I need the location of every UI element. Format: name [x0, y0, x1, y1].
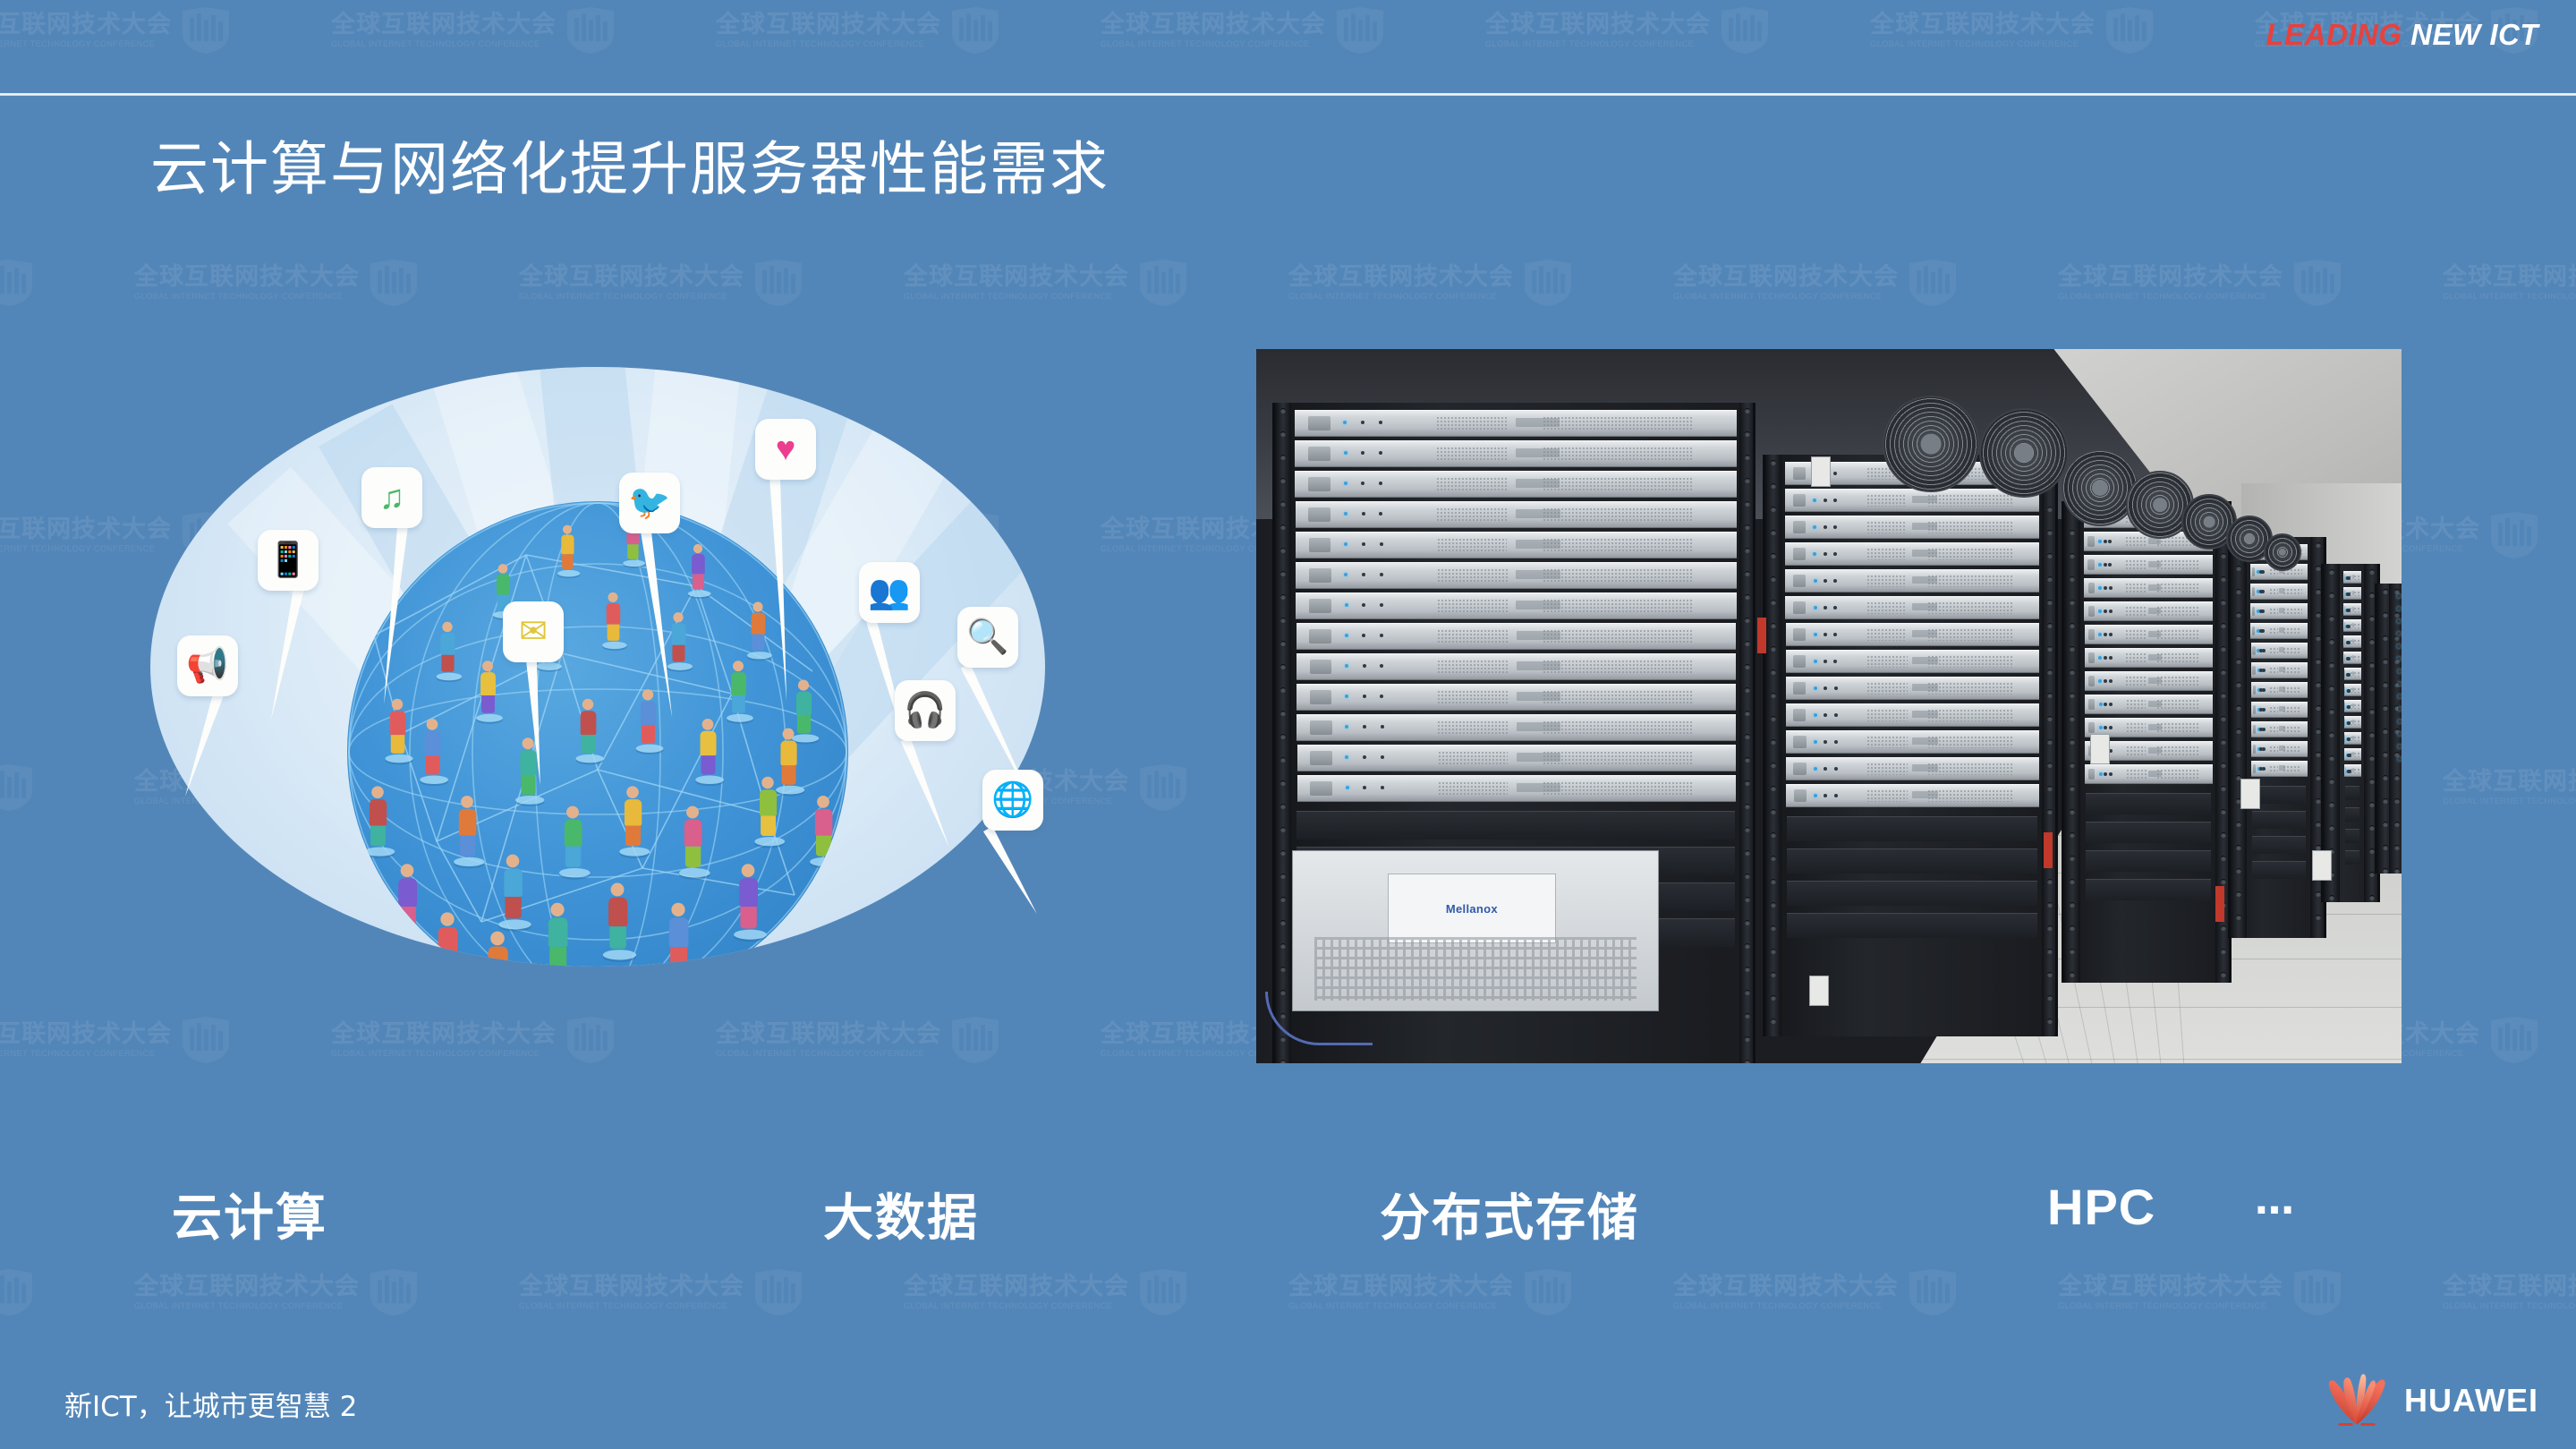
server-label [1517, 753, 1560, 762]
server-vent [2156, 746, 2200, 755]
person-legs [549, 947, 566, 967]
music-note-icon: ♫ [361, 467, 422, 528]
rack-server [2251, 643, 2308, 659]
server-handle [1793, 548, 1806, 560]
rail-hole [2329, 755, 2334, 761]
server-led [1814, 579, 1817, 583]
rail-hole [2236, 845, 2241, 850]
server-label [2148, 678, 2161, 684]
server-led [1824, 767, 1827, 771]
server-led [2109, 726, 2113, 729]
person-legs [685, 846, 701, 866]
server-vent [2126, 722, 2147, 732]
asset-label [2312, 850, 2332, 881]
rail-hole [1280, 780, 1286, 786]
rail-hole [2070, 669, 2075, 675]
rail-hole [1280, 920, 1286, 925]
rack-server [1297, 684, 1736, 711]
server-vent [2156, 629, 2200, 639]
server-led [2109, 679, 2113, 683]
server-led [2104, 586, 2107, 590]
rail-hole [2221, 856, 2226, 861]
music-note-icon-glyph: ♫ [379, 481, 405, 515]
server-handle [1310, 660, 1332, 675]
server-led [2109, 772, 2113, 776]
megaphone-icon-glyph: 📢 [186, 649, 228, 683]
person-torso [640, 702, 655, 726]
server-led [1834, 740, 1838, 744]
rail-hole [2236, 891, 2241, 897]
globe-person [667, 612, 688, 670]
server-vent [2156, 676, 2200, 686]
server-label [1516, 570, 1560, 579]
person-legs [399, 907, 415, 928]
server-handle [1308, 507, 1331, 523]
data-center-server-racks-photo: Mellanox [1256, 349, 2402, 1063]
server-handle [2087, 559, 2094, 570]
server-label [2352, 655, 2354, 659]
server-led [2398, 682, 2402, 686]
person-torso [480, 672, 495, 695]
server-label [2352, 639, 2354, 643]
rail-hole [2047, 530, 2053, 535]
rail-hole [1745, 734, 1750, 739]
rack-server [2343, 652, 2360, 664]
server-vent [1437, 660, 1508, 674]
person-platform [498, 919, 531, 929]
server-vent [1437, 629, 1508, 644]
server-label [2352, 752, 2354, 755]
rack-server [1297, 714, 1736, 741]
watermark-en: GLOBAL INTERNET TECHNOLOGY CONFERENCE [1870, 40, 2088, 49]
rail-hole [2394, 798, 2400, 804]
server-handle [2088, 722, 2095, 733]
rack-server [2343, 635, 2361, 648]
rail-hole [2236, 682, 2241, 687]
rail-hole [2383, 798, 2388, 804]
server-led [1833, 472, 1837, 475]
server-led [1363, 786, 1366, 789]
mobile-phone-icon-glyph: 📱 [267, 543, 309, 577]
server-vent [1866, 736, 1907, 747]
server-vent [2125, 583, 2146, 592]
server-led [2347, 592, 2351, 596]
rack-server [1786, 784, 2039, 807]
rail-hole [2070, 832, 2075, 838]
server-vent [2353, 720, 2359, 726]
server-led [2261, 629, 2265, 633]
server-vent [1543, 416, 1693, 430]
server-led [1379, 451, 1382, 455]
watermark-cn: 全球互联网技术大会 [0, 1022, 172, 1046]
rack-server [1785, 542, 2039, 566]
rack-rail [2231, 537, 2247, 938]
server-vent [2156, 652, 2200, 662]
server-led [1344, 512, 1348, 516]
watermark-cn: 全球互联网技术大会 [519, 265, 744, 289]
rack-server [2085, 648, 2213, 668]
rail-hole [2236, 915, 2241, 920]
server-vent [2353, 768, 2359, 774]
person-torso [519, 750, 535, 775]
server-vent [2125, 652, 2146, 662]
server-led [1363, 755, 1366, 759]
watermark-text: 全球互联网技术大会 GLOBAL INTERNET TECHNOLOGY CON… [2058, 1274, 2283, 1311]
server-label [1912, 737, 1937, 746]
person-torso [751, 613, 765, 635]
server-vent [2269, 667, 2278, 675]
server-label [1516, 540, 1560, 549]
rail-hole [2221, 623, 2226, 628]
globe-person [727, 661, 750, 721]
rail-hole [1745, 455, 1750, 460]
watermark-cn: 全球互联网技术大会 [716, 1022, 941, 1046]
rack-blank-panel [2086, 850, 2211, 872]
rail-hole [2236, 612, 2241, 618]
server-label [1912, 630, 1937, 638]
rail-hole [1771, 553, 1776, 558]
server-label [1517, 661, 1560, 670]
watermark-en: GLOBAL INTERNET TECHNOLOGY CONFERENCE [2058, 1302, 2276, 1311]
rail-hole [1745, 757, 1750, 763]
person-torso [760, 789, 777, 815]
server-led [1345, 603, 1348, 607]
server-label [1517, 631, 1560, 640]
server-handle [1794, 789, 1807, 802]
rail-hole [1771, 716, 1776, 721]
rail-hole [1745, 850, 1750, 856]
shield-logo [2487, 1017, 2541, 1063]
rack-server [2344, 684, 2361, 696]
server-vent [1543, 751, 1692, 765]
server-vent [1866, 601, 1907, 613]
header-divider-rule [0, 93, 2576, 96]
rail-hole [1280, 943, 1286, 949]
floor-tile-line [1920, 1059, 2402, 1060]
person-head [551, 902, 565, 916]
person-legs [627, 544, 638, 559]
globe-person [734, 864, 762, 939]
server-vent [2353, 623, 2359, 629]
server-label [1516, 601, 1560, 609]
rack-blank-panel [2086, 793, 2211, 814]
rail-hole [2047, 646, 2053, 652]
server-vent [2269, 726, 2278, 734]
server-led [2109, 633, 2113, 636]
rail-hole [1771, 995, 1776, 1001]
heart-icon: ♥ [755, 419, 816, 480]
rail-hole [1745, 478, 1750, 483]
rack-server [2085, 671, 2213, 691]
rack-rail [2064, 501, 2080, 983]
watermark-cn: 全球互联网技术大会 [904, 265, 1129, 289]
server-led [1824, 606, 1827, 609]
person-platform [623, 559, 645, 566]
globe-person [559, 805, 586, 877]
server-label [1517, 783, 1560, 792]
server-handle [2253, 764, 2256, 773]
watermark-tile: 全球互联网技术大会 GLOBAL INTERNET TECHNOLOGY CON… [1485, 7, 1772, 54]
watermark-en: GLOBAL INTERNET TECHNOLOGY CONFERENCE [1673, 293, 1892, 302]
server-label [2352, 768, 2354, 771]
server-label [2279, 627, 2284, 633]
person-torso [398, 878, 417, 907]
person-head [626, 787, 639, 799]
rail-hole [1771, 623, 1776, 628]
server-led [1381, 786, 1384, 789]
shield-logo [367, 260, 421, 306]
watermark-tile: 全球互联网技术大会 GLOBAL INTERNET TECHNOLOGY CON… [134, 260, 421, 306]
server-vent [2283, 706, 2301, 714]
server-led [2099, 726, 2103, 729]
server-vent [2283, 726, 2301, 734]
rail-hole [1280, 478, 1286, 483]
rack-server [2344, 748, 2361, 761]
watermark-tile: 全球互联网技术大会 GLOBAL INTERNET TECHNOLOGY CON… [2443, 260, 2576, 306]
rack-server [2085, 764, 2213, 784]
server-led [1814, 794, 1817, 797]
server-label [2279, 608, 2284, 613]
server-label [2148, 608, 2161, 614]
person-torso [625, 799, 642, 826]
server-handle [1793, 575, 1806, 587]
watermark-cn: 全球互联网技术大会 [1673, 265, 1899, 289]
watermark-text: 全球互联网技术大会 GLOBAL INTERNET TECHNOLOGY CON… [716, 13, 941, 49]
server-vent [2283, 686, 2301, 695]
server-led [1814, 686, 1817, 690]
globe-person [575, 699, 599, 763]
person-head [442, 622, 452, 632]
mellanox-chassis: Mellanox [1292, 850, 1659, 1011]
rail-hole [1280, 594, 1286, 600]
rail-hole [1771, 693, 1776, 698]
rail-hole [2329, 662, 2334, 668]
rail-hole [1280, 641, 1286, 646]
shield-logo [179, 7, 233, 54]
server-led [1361, 482, 1365, 485]
server-label [1912, 711, 1937, 719]
rack-server [2344, 764, 2361, 777]
rail-hole [2383, 682, 2388, 687]
server-label [1516, 418, 1560, 427]
person-platform [437, 672, 462, 680]
server-label [2352, 703, 2354, 707]
server-vent [1927, 601, 2013, 613]
rail-hole [1771, 576, 1776, 582]
globe-person [602, 592, 624, 649]
rail-hole [1280, 431, 1286, 437]
rack-rail [2042, 455, 2058, 1036]
watermark-en: GLOBAL INTERNET TECHNOLOGY CONFERENCE [1485, 40, 1704, 49]
rail-hole [2221, 716, 2226, 721]
server-label [2148, 631, 2161, 637]
server-led [1362, 573, 1365, 576]
rack-rail [1275, 403, 1291, 1063]
rack-server [1296, 592, 1736, 619]
rail-hole [2047, 716, 2053, 721]
server-vent [2269, 746, 2278, 754]
server-handle [1793, 467, 1806, 480]
person-torso [730, 672, 745, 695]
rail-hole [1771, 1019, 1776, 1024]
person-head [522, 737, 533, 749]
server-label [2279, 647, 2284, 652]
server-label [2279, 746, 2284, 751]
server-led [1362, 512, 1365, 516]
globe-person [437, 622, 459, 680]
watermark-text: 全球互联网技术大会 GLOBAL INTERNET TECHNOLOGY CON… [0, 1022, 172, 1059]
watermark-cn: 全球互联网技术大会 [331, 13, 557, 37]
server-handle [2087, 536, 2094, 547]
server-led [1344, 451, 1348, 455]
person-legs [609, 926, 626, 949]
rail-hole [1280, 757, 1286, 763]
server-led [1814, 633, 1817, 636]
server-led [2262, 767, 2266, 771]
rail-hole [1280, 548, 1286, 553]
server-handle [1793, 628, 1806, 641]
person-torso [795, 692, 811, 715]
rack-blank-panel [1297, 811, 1735, 840]
watermark-cn: 全球互联网技术大会 [2058, 265, 2283, 289]
rail-hole [2394, 612, 2400, 618]
rack-blank-panel [2345, 850, 2359, 865]
rail-hole [2047, 879, 2053, 884]
person-torso [608, 898, 627, 926]
server-led [1361, 421, 1365, 424]
rack-server [1295, 410, 1737, 437]
server-handle [2088, 769, 2095, 780]
warning-tag [1757, 618, 1766, 653]
person-head [753, 602, 763, 612]
rack-server [1295, 471, 1736, 498]
shield-logo [2487, 512, 2541, 558]
person-head [582, 699, 593, 710]
watermark-cn: 全球互联网技术大会 [716, 13, 941, 37]
server-handle [2344, 670, 2345, 677]
server-vent [2269, 608, 2278, 616]
asset-label [1809, 976, 1829, 1006]
person-platform [559, 868, 591, 877]
rail-hole [2047, 1019, 2053, 1024]
shield-logo [1906, 260, 1960, 306]
rail-hole [1280, 1036, 1286, 1042]
person-head [798, 680, 809, 691]
globe-person [364, 787, 391, 857]
watermark-text: 全球互联网技术大会 GLOBAL INTERNET TECHNOLOGY CON… [2058, 265, 2283, 302]
watermark-text: 全球互联网技术大会 GLOBAL INTERNET TECHNOLOGY CON… [134, 1274, 360, 1311]
person-torso [700, 731, 716, 756]
watermark-tile: 全球互联网技术大会 GLOBAL INTERNET TECHNOLOGY CON… [904, 260, 1190, 306]
rail-hole [1745, 548, 1750, 553]
watermark-en: GLOBAL INTERNET TECHNOLOGY CONFERENCE [519, 293, 737, 302]
server-vent [2353, 591, 2359, 597]
rail-hole [2221, 786, 2226, 791]
server-label [2352, 591, 2354, 594]
server-vent [1927, 521, 2013, 533]
person-legs [740, 907, 756, 928]
rail-hole [2329, 686, 2334, 691]
server-led [1346, 786, 1349, 789]
rack-blank-panel [2252, 836, 2306, 854]
server-handle [1309, 599, 1331, 614]
server-vent [1438, 751, 1508, 765]
person-legs [425, 755, 439, 774]
watermark-en: GLOBAL INTERNET TECHNOLOGY CONFERENCE [0, 545, 165, 554]
person-platform [364, 848, 395, 857]
shield-logo [752, 260, 805, 306]
server-label [1912, 523, 1937, 531]
rail-hole [2221, 879, 2226, 884]
server-vent [2283, 647, 2302, 655]
person-legs [781, 765, 795, 784]
bird-icon-glyph: 🐦 [628, 486, 670, 520]
person-head [371, 787, 384, 799]
label-hpc: HPC [2047, 1178, 2155, 1236]
person-head [673, 612, 683, 622]
rack-blank-panel [2252, 786, 2306, 804]
rack-server [2344, 668, 2361, 680]
server-led [2098, 656, 2102, 660]
server-led [1834, 767, 1838, 771]
watermark-en: GLOBAL INTERNET TECHNOLOGY CONFERENCE [904, 1302, 1122, 1311]
person-platform [734, 929, 767, 939]
globe-person [498, 854, 527, 929]
rail-hole [1745, 990, 1750, 995]
mail-envelope-icon: ✉ [503, 601, 564, 662]
server-led [2109, 586, 2113, 590]
server-led [1824, 713, 1827, 717]
rail-hole [2047, 925, 2053, 931]
rail-hole [1280, 501, 1286, 507]
person-head [566, 805, 579, 818]
server-handle [2344, 638, 2345, 644]
rail-hole [2047, 763, 2053, 768]
person-legs [607, 625, 619, 641]
server-vent [2353, 736, 2359, 742]
rack-blank-panel [2345, 807, 2359, 822]
rail-hole [2394, 635, 2400, 641]
person-platform [476, 713, 503, 721]
server-led [1834, 686, 1838, 690]
globe-person [482, 932, 513, 967]
person-platform [386, 754, 413, 763]
server-vent [1437, 720, 1508, 735]
bottom-label-row: 云计算大数据分布式存储HPC… [0, 1178, 2576, 1276]
watermark-text: 全球互联网技术大会 GLOBAL INTERNET TECHNOLOGY CON… [2443, 770, 2576, 806]
watermark-cn: 全球互联网技术大会 [1101, 13, 1326, 37]
person-torso [488, 947, 507, 967]
rack-server [1786, 730, 2039, 754]
person-legs [460, 836, 475, 857]
person-torso [369, 799, 386, 826]
server-led [1363, 725, 1366, 729]
person-platform [420, 775, 448, 784]
server-led [2262, 708, 2266, 712]
rail-hole [2221, 949, 2226, 954]
globe-person [393, 864, 421, 939]
person-head [702, 719, 714, 730]
server-led [1824, 633, 1827, 636]
rack-server [2084, 555, 2213, 575]
person-platform [603, 950, 636, 959]
rail-hole [1771, 507, 1776, 512]
server-vent [1866, 494, 1907, 506]
watermark-en: GLOBAL INTERNET TECHNOLOGY CONFERENCE [716, 1050, 934, 1059]
watermark-tile: 全球互联网技术大会 GLOBAL INTERNET TECHNOLOGY CON… [519, 260, 805, 306]
server-label [1912, 603, 1937, 611]
rack-server [1297, 775, 1736, 802]
